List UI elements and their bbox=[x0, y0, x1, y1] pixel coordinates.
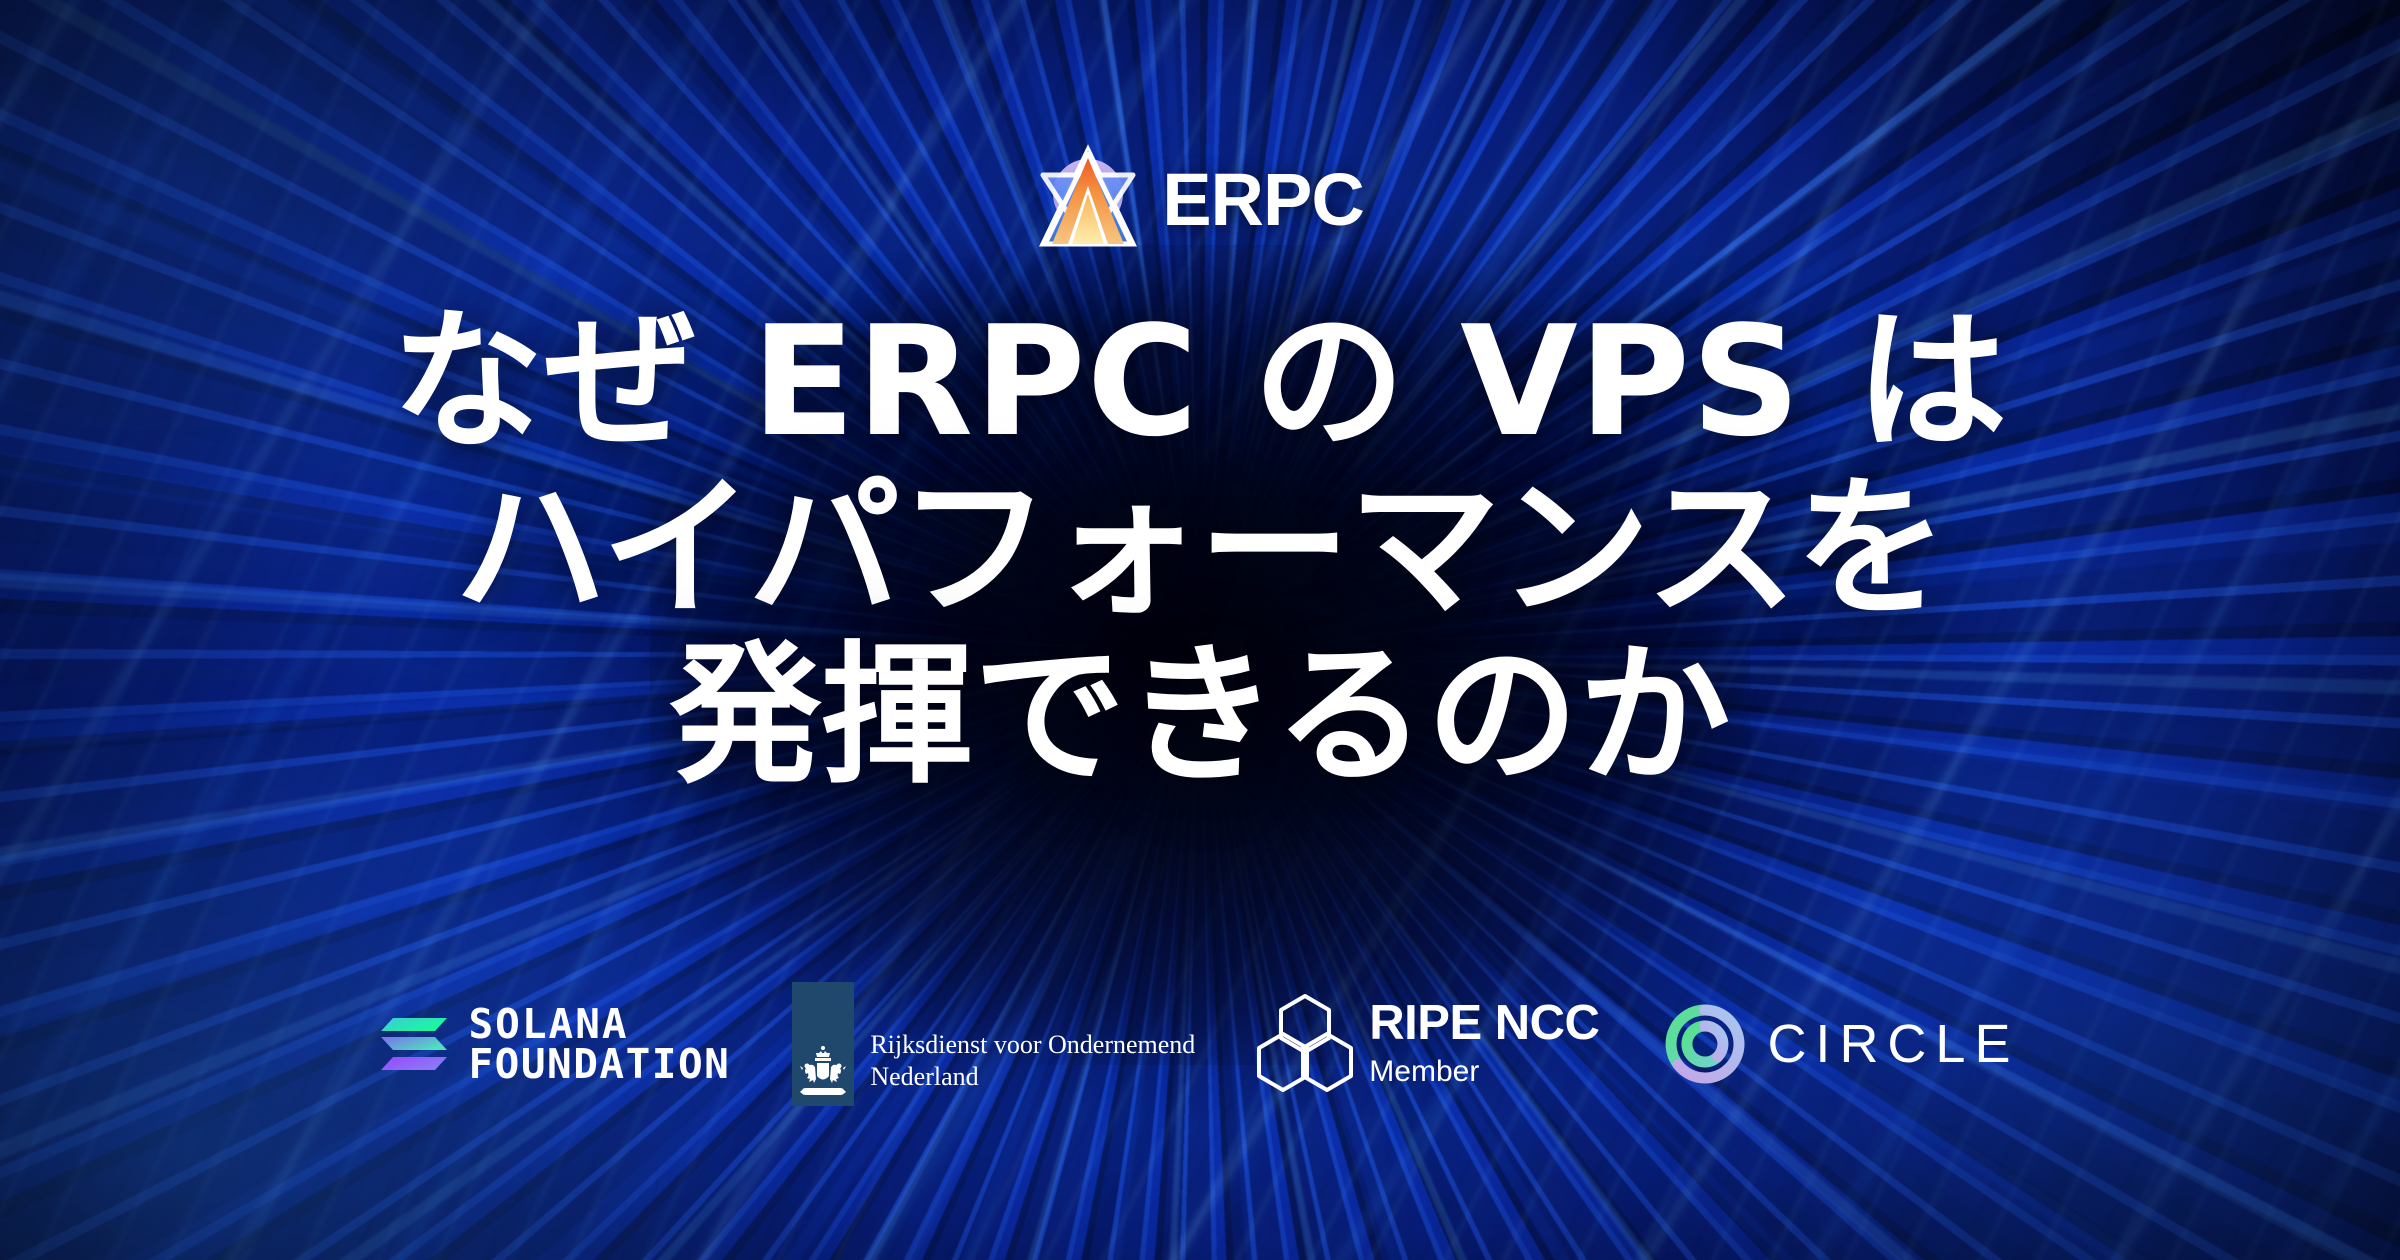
headline: なぜ ERPC の VPS は ハイパフォーマンスを 発揮できるのか bbox=[391, 298, 2008, 800]
brand-lockup: ERPC bbox=[1036, 142, 1364, 258]
banner-canvas: ERPC なぜ ERPC の VPS は ハイパフォーマンスを 発揮できるのか bbox=[0, 0, 2400, 1260]
brand-name: ERPC bbox=[1162, 163, 1364, 237]
headline-line-3: 発揮できるのか bbox=[391, 632, 2008, 799]
headline-line-2: ハイパフォーマンスを bbox=[391, 465, 2008, 632]
headline-line-1: なぜ ERPC の VPS は bbox=[391, 298, 2008, 465]
banner-content: ERPC なぜ ERPC の VPS は ハイパフォーマンスを 発揮できるのか bbox=[0, 0, 2400, 1260]
erpc-triangle-star-logo-icon bbox=[1036, 144, 1140, 256]
